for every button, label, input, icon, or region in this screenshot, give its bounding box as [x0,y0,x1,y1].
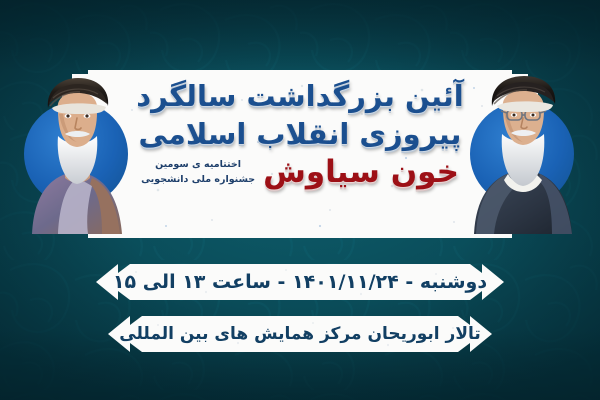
title-line-1: آئین بزرگداشت سالگرد [128,82,472,111]
ayatollah-khamenei-portrait [464,74,582,234]
date-ribbon: دوشنبه - ۱۴۰۱/۱۱/۲۴ - ساعت ۱۳ الی ۱۵ [96,264,504,300]
venue-ribbon-text: تالار ابوریحان مرکز همایش های بین المللی [119,324,481,344]
poster-title-block: آئین بزرگداشت سالگرد پیروزی انقلاب اسلام… [128,76,472,234]
imam-khomeini-artwork [18,74,136,234]
title-line-2: پیروزی انقلاب اسلامی [128,120,472,149]
date-ribbon-text: دوشنبه - ۱۴۰۱/۱۱/۲۴ - ساعت ۱۳ الی ۱۵ [113,271,487,293]
subtitle-small-line-1: اختتامیه ی سومین [141,158,255,172]
festival-name: خون سیاوش [263,157,459,188]
venue-ribbon: تالار ابوریحان مرکز همایش های بین المللی [108,316,492,352]
subtitle-small-line-2: جشنواره ملی دانشجویی [141,173,255,187]
background-top-shade [0,0,600,70]
imam-khomeini-portrait [18,74,136,234]
subtitle-small-text: اختتامیه ی سومین جشنواره ملی دانشجویی [141,158,255,187]
subtitle-row: خون سیاوش اختتامیه ی سومین جشنواره ملی د… [128,157,472,188]
ayatollah-khamenei-artwork [464,74,582,234]
event-poster: آئین بزرگداشت سالگرد پیروزی انقلاب اسلام… [0,0,600,400]
